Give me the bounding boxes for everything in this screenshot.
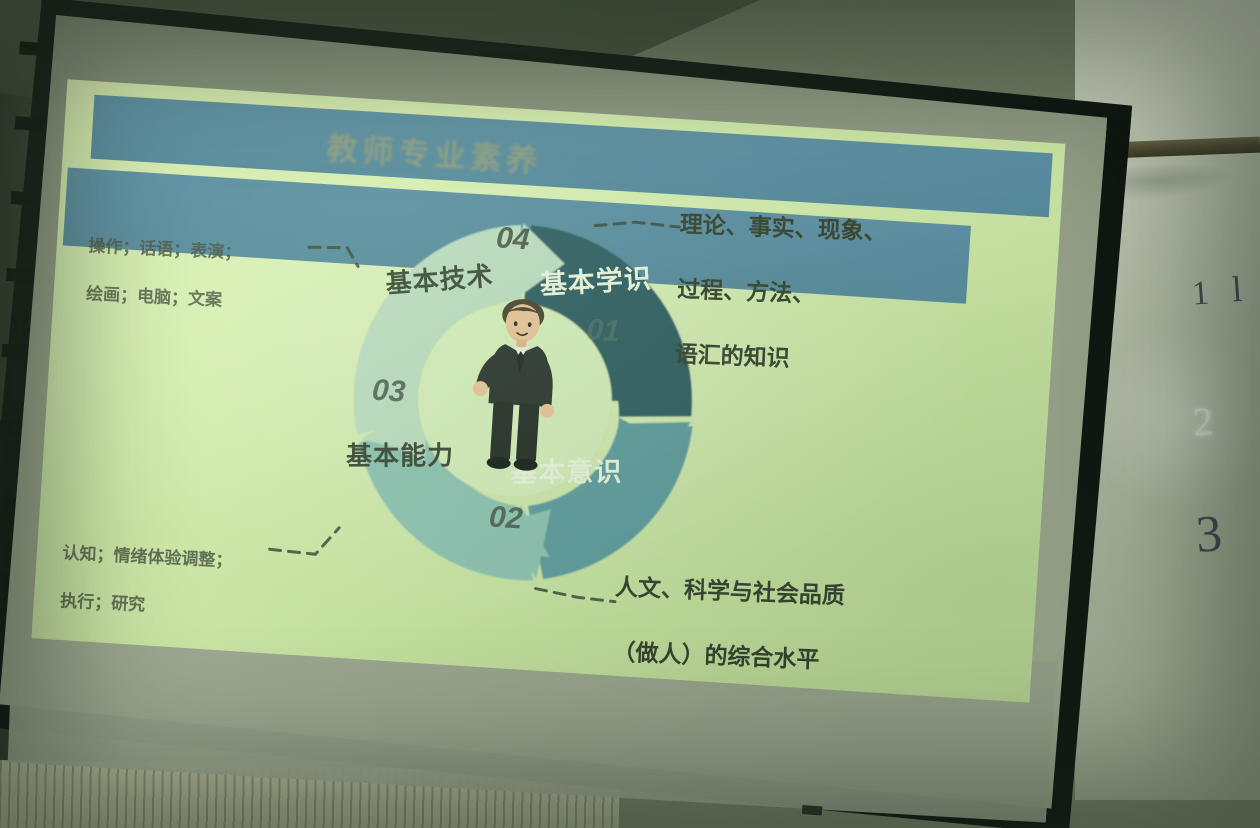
whiteboard-mark-1: 1	[1191, 274, 1211, 313]
callout-bottom-right-line2: （做人）的综合水平	[612, 637, 843, 678]
callout-top-left-line1: 操作；话语；表演；	[88, 234, 242, 265]
callout-top-left: 操作；话语；表演； 绘画；电脑；文案	[84, 210, 243, 338]
whiteboard-mark-2: 2	[1191, 397, 1214, 445]
screen-bracket	[15, 116, 46, 131]
projector-screen: 教师专业素养	[0, 0, 1150, 828]
screen-bracket	[1, 344, 32, 359]
callout-bottom-left-line2: 执行；研究	[60, 590, 231, 622]
callout-top-right-line3: 语汇的知识	[674, 339, 882, 380]
callout-bottom-left: 认知；情绪体验调整； 执行；研究	[59, 517, 234, 645]
slide-canvas: 教师专业素养	[31, 79, 1065, 702]
screen-bracket	[19, 41, 50, 56]
whiteboard-mark-3: 3	[1194, 504, 1224, 565]
callout-bottom-right-line1: 人文、科学与社会品质	[614, 571, 845, 612]
callout-top-right-line2: 过程、方法、	[677, 274, 885, 315]
screen-bracket	[6, 268, 37, 283]
callout-top-right-line1: 理论、事实、现象、	[679, 208, 887, 249]
screen-bracket	[10, 191, 41, 206]
screen-brand-logo	[801, 804, 824, 817]
callout-top-right: 理论、事实、现象、 过程、方法、 语汇的知识	[673, 176, 889, 412]
callout-top-left-line2: 绘画；电脑；文案	[86, 283, 240, 314]
callout-bottom-left-line1: 认知；情绪体验调整；	[62, 542, 233, 574]
classroom-scene: 1 l 2 3 教师专业素养	[0, 0, 1260, 828]
